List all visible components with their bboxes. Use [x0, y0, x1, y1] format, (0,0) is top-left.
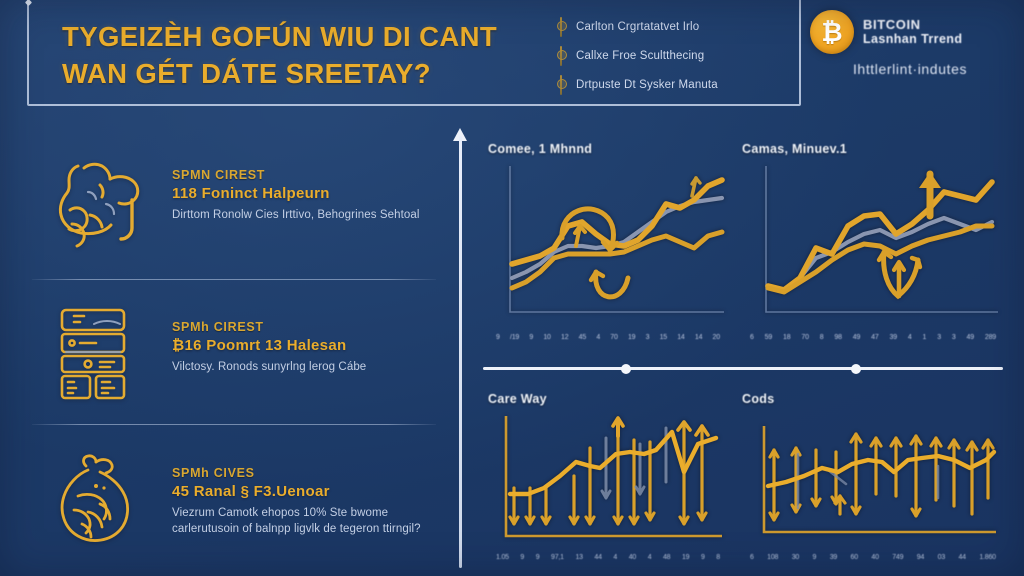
xtick: 8 [716, 554, 720, 561]
sidebar-item-kicker: SPMh CIVES [172, 466, 442, 480]
infographic-canvas: TYGEIZÈH GOFÚN WIU DI CANT WAN GÉT DÁTE … [0, 0, 1024, 576]
xtick: 3 [952, 334, 956, 341]
xtick: 4 [648, 554, 652, 561]
xtick: 49 [967, 334, 974, 341]
xtick: 40 [629, 554, 636, 561]
xtick: 45 [579, 334, 586, 341]
divider-dot [621, 364, 631, 374]
chart-svg-bottom-right [742, 410, 1004, 552]
sidebar-divider [32, 279, 436, 280]
chart-title: Camas, Minuev.1 [742, 142, 1004, 156]
header-bullet-label: Drtpuste Dt Sysker Manuta [576, 79, 718, 91]
sidebar-item-server-stack[interactable]: SPMh CIREST ₿16 Poomrt 13 Halesan Vilcto… [44, 304, 444, 412]
xtick: 9 [536, 554, 540, 561]
xtick: 289 [985, 334, 996, 341]
xtick: 15 [660, 334, 667, 341]
center-vertical-divider [459, 136, 462, 568]
sidebar-item-description: Viezrum Camotk ehopos 10% Ste bwome carl… [172, 505, 442, 537]
xtick: 4 [613, 554, 617, 561]
key-circle-icon [556, 17, 567, 37]
sidebar-item-description: Vilctosy. Ronods sunyrlng lerog Cábe [172, 359, 366, 375]
xtick: 6 [750, 554, 754, 561]
header-bullet-2: Drtpuste Dt Sysker Manuta [556, 72, 796, 97]
xtick: 19 [682, 554, 689, 561]
xtick: 70 [610, 334, 617, 341]
xtick: 40 [871, 554, 878, 561]
xtick: 18 [783, 334, 790, 341]
xtick: 4 [908, 334, 912, 341]
chart-svg-top-right [742, 160, 1004, 332]
sidebar-item-value: 45 Ranal § F3.Uenoar [172, 483, 442, 500]
xtick: 19 [628, 334, 635, 341]
xtick: 3 [937, 334, 941, 341]
xtick: 1 [923, 334, 927, 341]
chart-xticks-top-left: 9 /19 9 10 12 45 4 70 19 3 15 14 14 20 [488, 334, 728, 341]
chart-svg-bottom-left [488, 410, 728, 552]
title-line-1: TYGEIZÈH GOFÚN WIU DI CANT [62, 18, 532, 55]
xtick: 13 [575, 554, 582, 561]
xtick: 12 [561, 334, 568, 341]
xtick: 39 [830, 554, 837, 561]
header-bullet-0: Carlton Crgrtatatvet Irlo [556, 14, 796, 39]
sidebar-item-mining-rig[interactable]: SPMN CIREST 118 Foninct Halpeurn Dirttom… [44, 152, 444, 260]
brand-subtitle: Ihttlerlint·indutes [810, 61, 1010, 77]
xtick: 97,1 [551, 554, 564, 561]
xtick: 47 [871, 334, 878, 341]
xtick: 94 [917, 554, 924, 561]
header-bullet-1: Callxe Froe Scultthecing [556, 43, 796, 68]
xtick: 4 [596, 334, 600, 341]
sidebar-item-value: ₿16 Poomrt 13 Halesan [172, 337, 366, 354]
chart-panel-bottom-right[interactable]: Cods [742, 392, 1004, 570]
sidebar-item-coin-sack[interactable]: SPMh CIVES 45 Ranal § F3.Uenoar Viezrum … [44, 450, 444, 558]
brand-name-line-2: Lasnhan Trrend [863, 32, 962, 46]
chart-title: Care Way [488, 392, 728, 406]
xtick: 9 [520, 554, 524, 561]
sidebar-item-value: 118 Foninct Halpeurn [172, 185, 420, 202]
xtick: 39 [890, 334, 897, 341]
xtick: 30 [792, 554, 799, 561]
xtick: 10 [543, 334, 550, 341]
xtick: 6 [750, 334, 754, 341]
xtick: 9 [496, 334, 500, 341]
server-stack-icon [44, 304, 154, 412]
xtick: 60 [851, 554, 858, 561]
header-bullet-label: Callxe Froe Scultthecing [576, 50, 704, 62]
xtick: 9 [813, 554, 817, 561]
bitcoin-coin-icon: ₿ [810, 10, 854, 54]
xtick: 70 [801, 334, 808, 341]
xtick: 44 [958, 554, 965, 561]
chart-xticks-top-right: 6 59 18 70 8 98 49 47 39 4 1 3 3 49 289 [742, 334, 1004, 341]
title-line-2: WAN GÉT DÁTE SREETAY? [62, 55, 532, 92]
brand-name-line-1: BITCOIN [863, 18, 962, 32]
xtick: 9 [529, 334, 533, 341]
xtick: 8 [820, 334, 824, 341]
xtick: /19 [510, 334, 519, 341]
sidebar-item-kicker: SPMh CIREST [172, 320, 366, 334]
mining-rig-hand-icon [44, 152, 154, 260]
key-circle-icon [556, 46, 567, 66]
coin-sack-icon [44, 450, 154, 558]
chart-panel-bottom-left[interactable]: Care Way [488, 392, 728, 570]
sidebar-item-kicker: SPMN CIREST [172, 168, 420, 182]
xtick: 20 [713, 334, 720, 341]
chart-svg-top-left [488, 160, 728, 332]
brand-logo: ₿ BITCOIN Lasnhan Trrend Ihttlerlint·ind… [810, 10, 1010, 77]
bitcoin-glyph: ₿ [810, 10, 854, 54]
header-bullet-list: Carlton Crgrtatatvet Irlo Callxe Froe Sc… [556, 14, 796, 101]
key-circle-icon [556, 75, 567, 95]
chart-panel-top-left[interactable]: Comee, 1 Mhnnd 9 /19 9 10 [488, 142, 728, 354]
xtick: 48 [663, 554, 670, 561]
xtick: 98 [834, 334, 841, 341]
xtick: 3 [646, 334, 650, 341]
xtick: 108 [767, 554, 778, 561]
page-title: TYGEIZÈH GOFÚN WIU DI CANT WAN GÉT DÁTE … [62, 18, 532, 92]
xtick: 49 [853, 334, 860, 341]
xtick: 9 [701, 554, 705, 561]
xtick: 1.05 [496, 554, 509, 561]
chart-row-divider [483, 367, 1003, 370]
xtick: 1.860 [979, 554, 996, 561]
sidebar-item-description: Dirttom Ronolw Cies Irttivo, Behogrines … [172, 207, 420, 223]
xtick: 44 [594, 554, 601, 561]
divider-dot [851, 364, 861, 374]
xtick: 749 [892, 554, 903, 561]
xtick: 03 [938, 554, 945, 561]
xtick: 14 [677, 334, 684, 341]
chart-xticks-bottom-right: 6 108 30 9 39 60 40 749 94 03 44 1.860 [742, 554, 1004, 561]
chart-xticks-bottom-left: 1.05 9 9 97,1 13 44 4 40 4 48 19 9 8 [488, 554, 728, 561]
xtick: 59 [765, 334, 772, 341]
sidebar-divider [32, 424, 436, 425]
xtick: 14 [695, 334, 702, 341]
chart-panel-top-right[interactable]: Camas, Minuev.1 6 59 18 70 8 98 [742, 142, 1004, 354]
chart-title: Comee, 1 Mhnnd [488, 142, 728, 156]
header-bullet-label: Carlton Crgrtatatvet Irlo [576, 21, 699, 33]
chart-title: Cods [742, 392, 1004, 406]
